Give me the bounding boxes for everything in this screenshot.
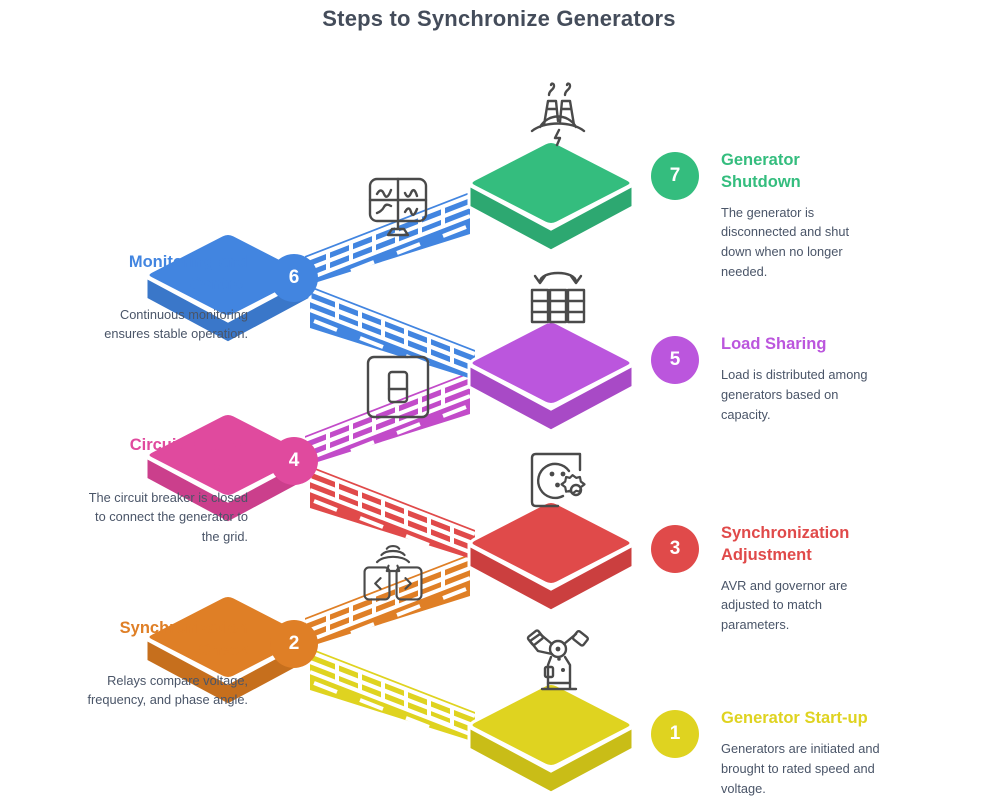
step-text-3: Synchronization Adjustment AVR and gover… [721,523,883,635]
step-badge-4: 4 [270,437,318,485]
step-badge-6: 6 [270,254,318,302]
step-title-2: Synchronization Check [86,618,248,662]
load-distribution-icon [518,258,598,338]
step-title-4: Circuit Breaker Closure [86,435,248,479]
outlet-settings-icon [518,440,598,520]
step-badge-5: 5 [651,336,699,384]
step-item-2[interactable]: 2 Synchronization Check Relays compare v… [86,618,318,710]
stair-run-1 [310,648,475,742]
step-description-5: Load is distributed among generators bas… [721,365,883,425]
power-plant-icon [518,75,598,155]
platform-7 [469,142,633,252]
step-description-2: Relays compare voltage, frequency, and p… [86,671,248,711]
step-badge-7: 7 [651,152,699,200]
step-item-3[interactable]: 3 Synchronization Adjustment AVR and gov… [651,523,883,635]
step-description-6: Continuous monitoring ensures stable ope… [86,305,248,345]
step-item-7[interactable]: 7 Generator Shutdown The generator is di… [651,150,883,282]
light-switch-icon [358,347,438,427]
step-text-2: Synchronization Check Relays compare vol… [86,618,248,710]
step-description-4: The circuit breaker is closed to connect… [86,488,248,548]
wind-turbine-icon [518,623,598,703]
step-badge-3: 3 [651,525,699,573]
step-text-5: Load Sharing Load is distributed among g… [721,334,883,425]
step-text-4: Circuit Breaker Closure The circuit brea… [86,435,248,547]
step-title-5: Load Sharing [721,334,883,356]
step-item-1[interactable]: 1 Generator Start-up Generators are init… [651,708,883,799]
step-text-1: Generator Start-up Generators are initia… [721,708,883,799]
step-description-7: The generator is disconnected and shut d… [721,203,883,283]
step-badge-1: 1 [651,710,699,758]
step-badge-2: 2 [270,620,318,668]
step-title-3: Synchronization Adjustment [721,523,883,567]
step-text-6: Monitoring and Control Continuous monito… [86,252,248,344]
step-description-1: Generators are initiated and brought to … [721,739,883,799]
step-description-3: AVR and governor are adjusted to match p… [721,576,883,636]
device-sync-icon [353,531,433,611]
step-title-6: Monitoring and Control [86,252,248,296]
step-title-7: Generator Shutdown [721,150,883,194]
step-item-5[interactable]: 5 Load Sharing Load is distributed among… [651,334,883,425]
step-item-4[interactable]: 4 Circuit Breaker Closure The circuit br… [86,435,318,547]
step-title-1: Generator Start-up [721,708,883,730]
step-text-7: Generator Shutdown The generator is disc… [721,150,883,282]
step-item-6[interactable]: 6 Monitoring and Control Continuous moni… [86,252,318,344]
monitoring-dashboard-icon [358,165,438,245]
